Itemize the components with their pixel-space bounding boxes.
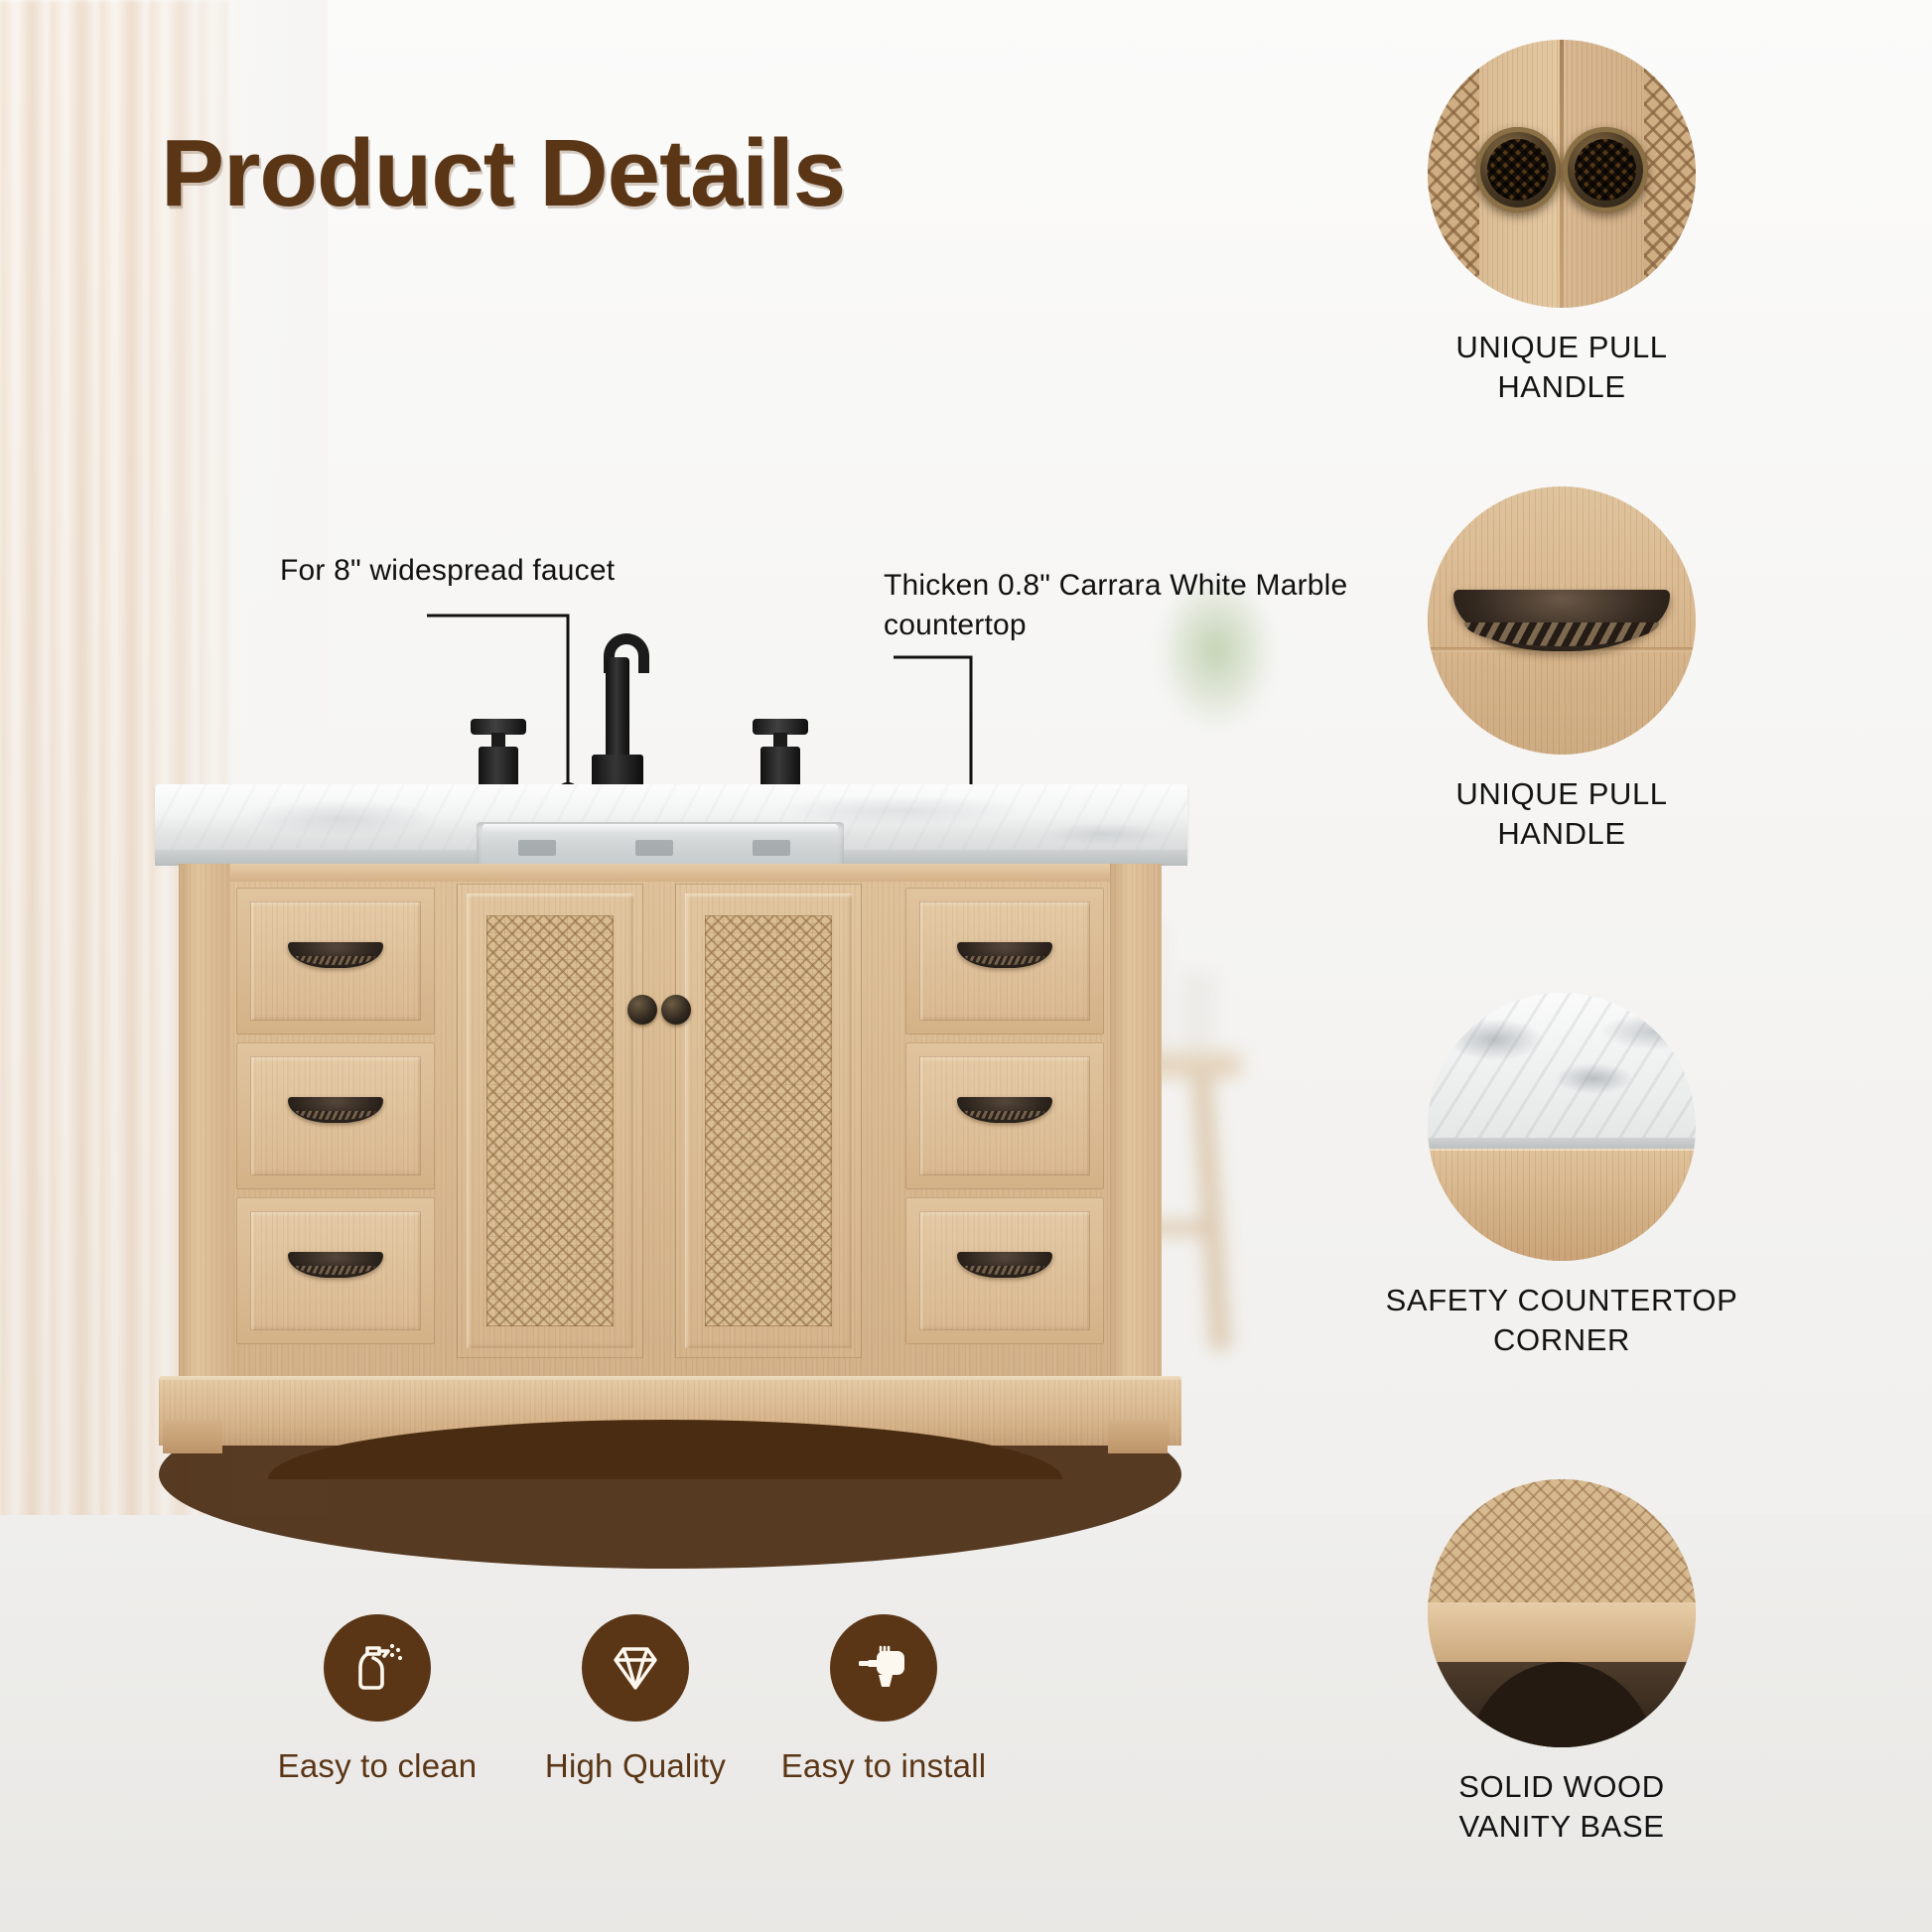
badge-easy-to-clean: Easy to clean	[228, 1614, 526, 1785]
diamond-icon	[582, 1614, 689, 1722]
cabinet-door-right[interactable]	[675, 884, 862, 1358]
cabinet-top-rail	[179, 864, 1162, 882]
feature-badges-row: Easy to clean High Quality	[0, 1614, 1152, 1863]
drawer-left-2[interactable]	[236, 1042, 435, 1189]
round-woven-knob-icon	[1428, 40, 1696, 308]
feature-countertop-corner: SAFETY COUNTERTOP CORNER	[1191, 993, 1932, 1361]
cabinet-left-stile	[179, 864, 230, 1380]
feature-pull-handle-cup: UNIQUE PULL HANDLE	[1191, 486, 1932, 855]
drawer-left-3[interactable]	[236, 1197, 435, 1344]
feature-label-line2: HANDLE	[1191, 367, 1932, 407]
feature-label-line1: UNIQUE PULL	[1191, 774, 1932, 814]
feature-label: SOLID WOOD VANITY BASE	[1191, 1767, 1932, 1848]
faucet-spout-base	[592, 755, 643, 788]
badge-label: Easy to clean	[228, 1747, 526, 1785]
badge-easy-to-install: Easy to install	[735, 1614, 1033, 1785]
feature-label: SAFETY COUNTERTOP CORNER	[1191, 1281, 1932, 1361]
feature-label-line2: VANITY BASE	[1191, 1807, 1932, 1847]
drawer-right-3[interactable]	[905, 1197, 1104, 1344]
badge-label: Easy to install	[735, 1747, 1033, 1785]
feature-vanity-base: SOLID WOOD VANITY BASE	[1191, 1479, 1932, 1848]
feature-label-line1: UNIQUE PULL	[1191, 328, 1932, 367]
sink-slot	[753, 840, 790, 856]
feature-detail-column: UNIQUE PULL HANDLE UNIQUE PULL HANDLE SA…	[1191, 0, 1932, 1932]
sink-slot	[518, 840, 556, 856]
cabinet-door-left[interactable]	[457, 884, 643, 1358]
sink-lip	[483, 824, 838, 832]
vanity-product-image	[149, 784, 1201, 1579]
round-woven-knob-icon[interactable]	[627, 995, 657, 1025]
cane-webbing-panel	[486, 915, 614, 1326]
marble-corner-icon	[1428, 993, 1696, 1261]
drawer-right-2[interactable]	[905, 1042, 1104, 1189]
feature-label-line2: HANDLE	[1191, 814, 1932, 854]
sink-slot	[635, 840, 673, 856]
callout-faucet-label: For 8" widespread faucet	[280, 551, 737, 591]
cabinet-right-stile	[1110, 864, 1162, 1380]
vanity-cabinet	[179, 864, 1162, 1380]
cane-webbing-panel	[705, 915, 832, 1326]
round-woven-knob-icon[interactable]	[661, 995, 691, 1025]
feature-pull-handle-knob: UNIQUE PULL HANDLE	[1191, 40, 1932, 408]
feature-label-line1: SOLID WOOD	[1191, 1767, 1932, 1807]
spray-bottle-icon	[324, 1614, 431, 1722]
page-title: Product Details	[161, 119, 845, 228]
vanity-foot-left	[163, 1420, 222, 1453]
solid-wood-base-icon	[1428, 1479, 1696, 1747]
drawer-right-1[interactable]	[905, 888, 1104, 1035]
vanity-foot-right	[1108, 1420, 1168, 1453]
feature-label-line1: SAFETY COUNTERTOP	[1191, 1281, 1932, 1320]
feature-label: UNIQUE PULL HANDLE	[1191, 328, 1932, 408]
feature-label: UNIQUE PULL HANDLE	[1191, 774, 1932, 855]
cup-pull-handle-icon	[1428, 486, 1696, 755]
power-drill-icon	[830, 1614, 937, 1722]
drawer-left-1[interactable]	[236, 888, 435, 1035]
feature-label-line2: CORNER	[1191, 1320, 1932, 1360]
